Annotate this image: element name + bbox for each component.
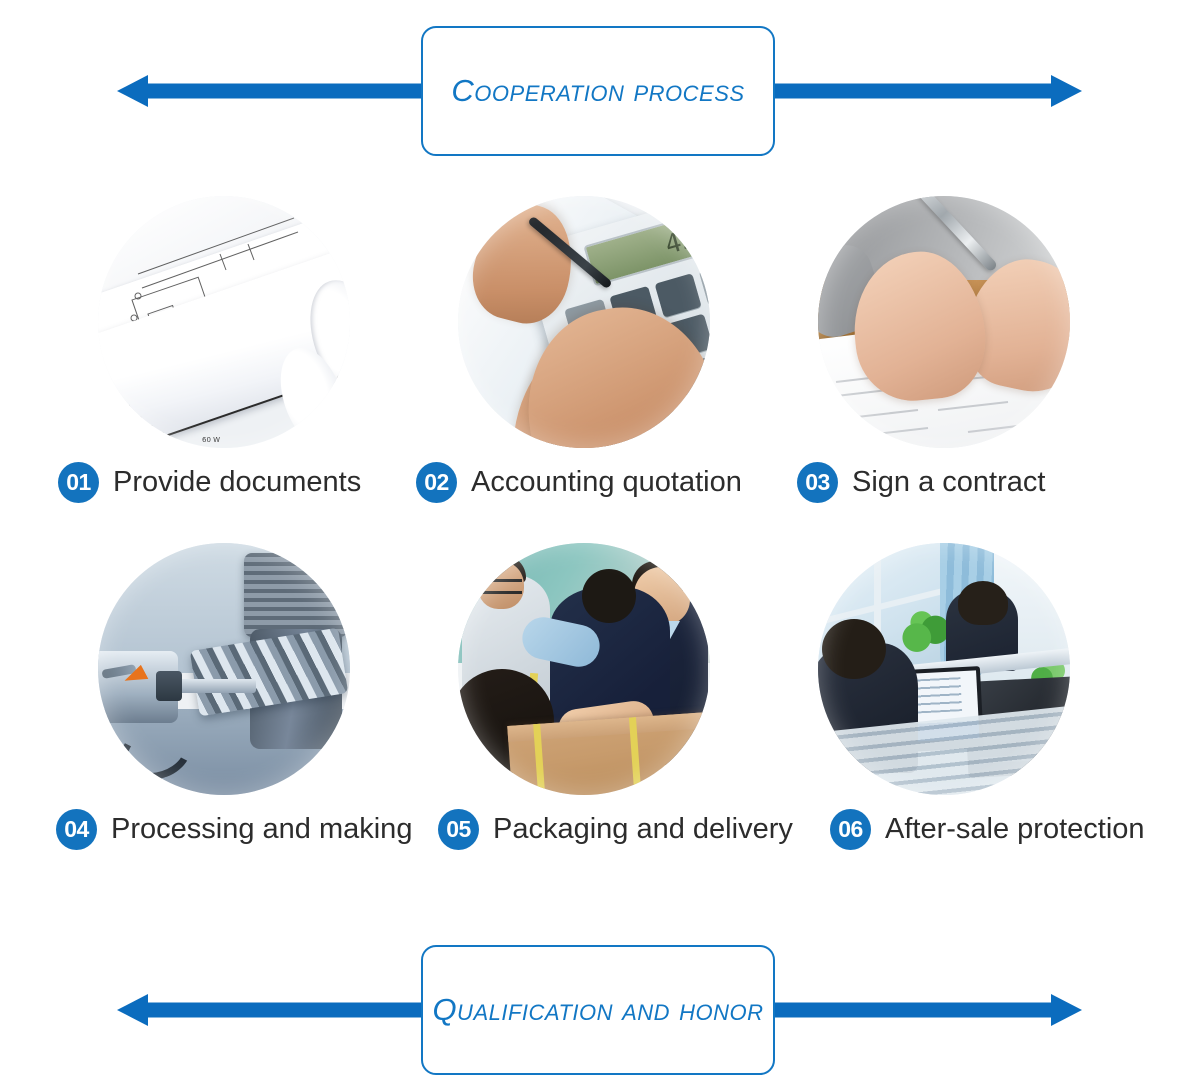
signing-contract-photo	[818, 196, 1070, 448]
step-item-02[interactable]: 4543 02 Accounting quotation	[458, 196, 710, 448]
step-caption-05: 05 Packaging and delivery	[438, 809, 793, 850]
step-badge-03: 03	[797, 462, 838, 503]
step-caption-02: 02 Accounting quotation	[416, 462, 742, 503]
cooperation-process-banner: Cooperation process	[0, 26, 1200, 156]
step-label-04: Processing and making	[111, 813, 412, 846]
qualification-and-honor-banner: Qualification and honor	[0, 945, 1200, 1075]
step-item-04[interactable]: 04 Processing and making	[98, 543, 350, 795]
step-item-06[interactable]: 06 After-sale protection	[818, 543, 1070, 795]
step-caption-01: 01 Provide documents	[58, 462, 361, 503]
step-item-03[interactable]: 03 Sign a contract	[818, 196, 1070, 448]
step-badge-05: 05	[438, 809, 479, 850]
svg-text:60 W: 60 W	[202, 436, 220, 444]
step-item-05[interactable]: 05 Packaging and delivery	[458, 543, 710, 795]
step-label-06: After-sale protection	[885, 813, 1145, 846]
step-label-03: Sign a contract	[852, 466, 1045, 499]
banner-title: Qualification and honor	[432, 992, 763, 1028]
cnc-machining-photo	[98, 543, 350, 795]
steps-row-1: PE N b1 60 W 01 Provide documents	[0, 196, 1200, 543]
banner-title-box: Cooperation process	[421, 26, 775, 156]
step-caption-03: 03 Sign a contract	[797, 462, 1045, 503]
step-label-02: Accounting quotation	[471, 466, 742, 499]
packaging-workers-photo	[458, 543, 710, 795]
hands-calculator-photo: 4543	[458, 196, 710, 448]
arrow-right-icon	[1051, 994, 1082, 1026]
banner-title-box: Qualification and honor	[421, 945, 775, 1075]
steps-row-2: 04 Processing and making	[0, 543, 1200, 890]
arrow-right-icon	[1051, 75, 1082, 107]
office-workers-photo	[818, 543, 1070, 795]
arrow-left-icon	[117, 75, 148, 107]
banner-title: Cooperation process	[451, 73, 744, 109]
arrow-left-icon	[117, 994, 148, 1026]
cooperation-steps: PE N b1 60 W 01 Provide documents	[0, 196, 1200, 890]
step-item-01[interactable]: PE N b1 60 W 01 Provide documents	[98, 196, 350, 448]
step-badge-02: 02	[416, 462, 457, 503]
step-badge-01: 01	[58, 462, 99, 503]
step-badge-04: 04	[56, 809, 97, 850]
step-caption-06: 06 After-sale protection	[830, 809, 1145, 850]
step-caption-04: 04 Processing and making	[56, 809, 412, 850]
rolled-blueprints-photo: PE N b1 60 W	[98, 196, 350, 448]
step-label-01: Provide documents	[113, 466, 361, 499]
step-badge-06: 06	[830, 809, 871, 850]
step-label-05: Packaging and delivery	[493, 813, 793, 846]
